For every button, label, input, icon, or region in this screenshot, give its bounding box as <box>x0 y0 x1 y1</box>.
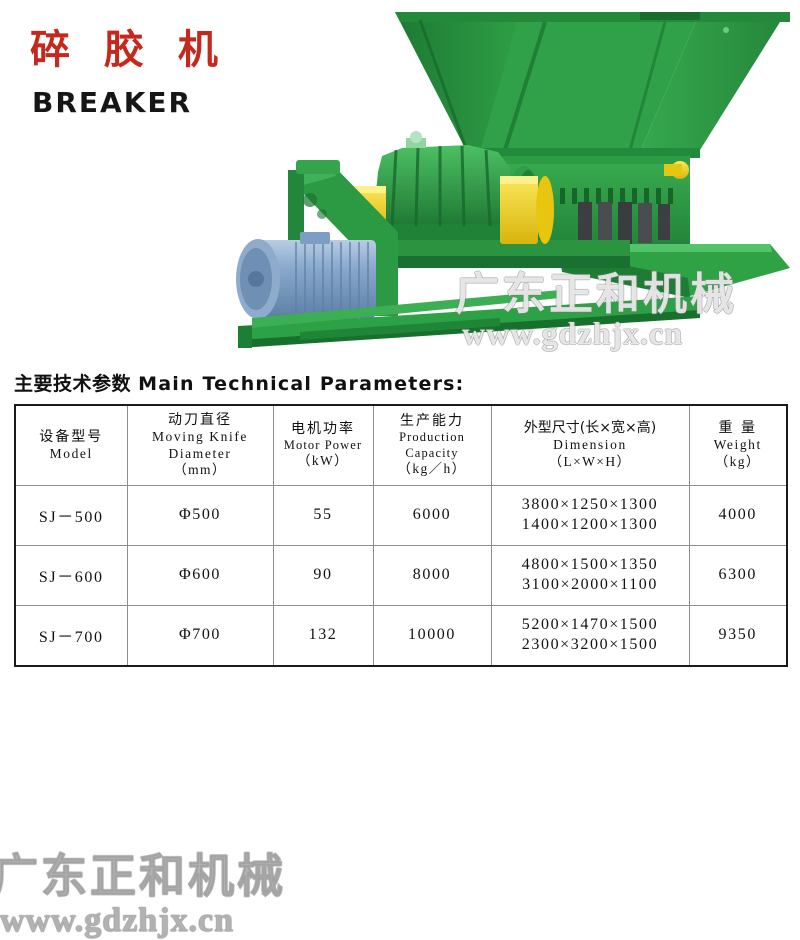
cell-dimension-line1: 3800×1250×1300 <box>494 495 687 515</box>
cell-model: SJ－600 <box>15 546 127 606</box>
spec-heading: 主要技术参数 Main Technical Parameters: <box>14 369 464 396</box>
cell-dimension: 4800×1500×1350 3100×2000×1100 <box>491 546 689 606</box>
column-header-capacity-cn: 生产能力 <box>376 412 489 430</box>
column-header-knife-diameter-en1: Moving Knife <box>130 429 271 445</box>
product-title-block: 碎 胶 机 BREAKER <box>30 28 228 119</box>
column-header-knife-diameter-en2: Diameter <box>130 446 271 462</box>
column-header-dimension-en: Dimension <box>494 437 687 453</box>
spec-heading-cn: 主要技术参数 <box>14 373 131 395</box>
specifications-section: 主要技术参数 Main Technical Parameters: 广东正和机械… <box>0 362 800 612</box>
cell-capacity: 6000 <box>373 486 491 546</box>
cell-dimension: 5200×1470×1500 2300×3200×1500 <box>491 606 689 667</box>
table-row: SJ－600 Φ600 90 8000 4800×1500×1350 3100×… <box>15 546 787 606</box>
cell-capacity: 10000 <box>373 606 491 667</box>
table-row: SJ－700 Φ700 132 10000 5200×1470×1500 230… <box>15 606 787 667</box>
column-header-knife-diameter-cn: 动刀直径 <box>130 411 271 429</box>
column-header-weight-unit: （kg） <box>692 454 785 471</box>
table-row: SJ－500 Φ500 55 6000 3800×1250×1300 1400×… <box>15 486 787 546</box>
column-header-knife-diameter: 动刀直径 Moving Knife Diameter （mm） <box>127 405 273 486</box>
column-header-weight-cn: 重 量 <box>692 419 785 437</box>
column-header-capacity-en2: Capacity <box>376 446 489 461</box>
product-photo: 碎 胶 机 BREAKER 广东正和机械 www.gdzhjx.cn <box>0 0 800 362</box>
cell-model: SJ－700 <box>15 606 127 667</box>
cell-weight: 6300 <box>689 546 787 606</box>
spec-table-wrap: 设备型号 Model 动刀直径 Moving Knife Diameter （m… <box>14 404 786 667</box>
column-header-dimension-unit: （L×W×H） <box>494 454 687 471</box>
cell-dimension-line1: 5200×1470×1500 <box>494 615 687 635</box>
cell-dimension-line1: 4800×1500×1350 <box>494 555 687 575</box>
column-header-capacity-en1: Production <box>376 430 489 445</box>
cell-dimension-line2: 1400×1200×1300 <box>494 515 687 535</box>
column-header-capacity-unit: （kg／h） <box>376 461 489 478</box>
cell-knife-diameter: Φ500 <box>127 486 273 546</box>
spec-heading-en: Main Technical Parameters: <box>138 373 464 395</box>
column-header-model-en: Model <box>18 446 125 462</box>
page-title-en: BREAKER <box>32 86 228 119</box>
cell-knife-diameter: Φ700 <box>127 606 273 667</box>
column-header-model: 设备型号 Model <box>15 405 127 486</box>
column-header-capacity: 生产能力 Production Capacity （kg／h） <box>373 405 491 486</box>
cell-motor-power: 90 <box>273 546 373 606</box>
cell-motor-power: 132 <box>273 606 373 667</box>
cell-motor-power: 55 <box>273 486 373 546</box>
cell-capacity: 8000 <box>373 546 491 606</box>
cell-weight: 4000 <box>689 486 787 546</box>
spec-table: 设备型号 Model 动刀直径 Moving Knife Diameter （m… <box>14 404 788 667</box>
watermark-website-bottom: www.gdzhjx.cn <box>0 902 234 940</box>
cell-dimension: 3800×1250×1300 1400×1200×1300 <box>491 486 689 546</box>
column-header-motor-power-cn: 电机功率 <box>276 420 371 438</box>
column-header-motor-power: 电机功率 Motor Power （kW） <box>273 405 373 486</box>
column-header-dimension-cn: 外型尺寸(长×宽×高) <box>494 419 687 437</box>
cell-dimension-line2: 3100×2000×1100 <box>494 575 687 595</box>
column-header-motor-power-en: Motor Power <box>276 438 371 453</box>
table-header-row: 设备型号 Model 动刀直径 Moving Knife Diameter （m… <box>15 405 787 486</box>
column-header-dimension: 外型尺寸(长×宽×高) Dimension （L×W×H） <box>491 405 689 486</box>
watermark-company-bottom: 广东正和机械 <box>0 840 286 906</box>
column-header-model-cn: 设备型号 <box>18 428 125 446</box>
cell-dimension-line2: 2300×3200×1500 <box>494 635 687 655</box>
cell-knife-diameter: Φ600 <box>127 546 273 606</box>
cell-weight: 9350 <box>689 606 787 667</box>
column-header-motor-power-unit: （kW） <box>276 453 371 470</box>
column-header-weight: 重 量 Weight （kg） <box>689 405 787 486</box>
column-header-weight-en: Weight <box>692 437 785 453</box>
cell-model: SJ－500 <box>15 486 127 546</box>
page-title-cn: 碎 胶 机 <box>30 28 228 72</box>
column-header-knife-diameter-unit: （mm） <box>130 462 271 479</box>
